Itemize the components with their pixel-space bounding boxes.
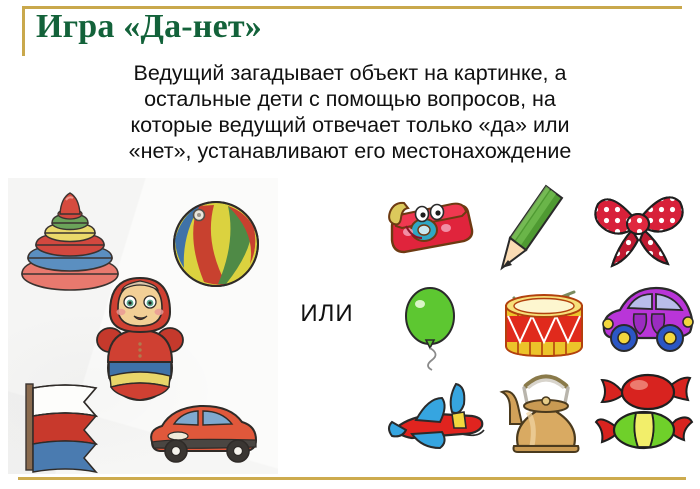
telephone-icon	[378, 186, 478, 266]
airplane-icon	[386, 376, 490, 462]
candy-icon	[594, 368, 694, 458]
red-car-toy	[138, 396, 263, 466]
drum-icon	[494, 278, 594, 362]
bottom-gold-rule	[18, 477, 686, 480]
ribbon-bow-icon	[590, 182, 690, 274]
body-line-1: Ведущий загадывает объект на картинке, а	[24, 60, 676, 86]
page-title: Игра «Да-нет»	[36, 8, 262, 46]
slide-canvas: Игра «Да-нет» Ведущий загадывает объект …	[0, 0, 700, 489]
purple-car-icon	[598, 280, 696, 360]
separator-label: ИЛИ	[290, 300, 364, 328]
body-line-3: которые ведущий отвечает только «да» или	[24, 112, 676, 138]
balloon-icon	[398, 282, 468, 370]
russian-flag	[18, 380, 118, 472]
pencil-icon	[494, 182, 572, 278]
left-image-panel	[8, 178, 278, 474]
left-gold-rule	[22, 6, 25, 56]
right-image-panel	[372, 178, 696, 474]
kettle-icon	[498, 366, 594, 460]
body-line-2: остальные дети с помощью вопросов, на	[24, 86, 676, 112]
body-paragraph: Ведущий загадывает объект на картинке, а…	[24, 60, 676, 164]
body-line-4: «нет», устанавливают его местонахождение	[24, 138, 676, 164]
